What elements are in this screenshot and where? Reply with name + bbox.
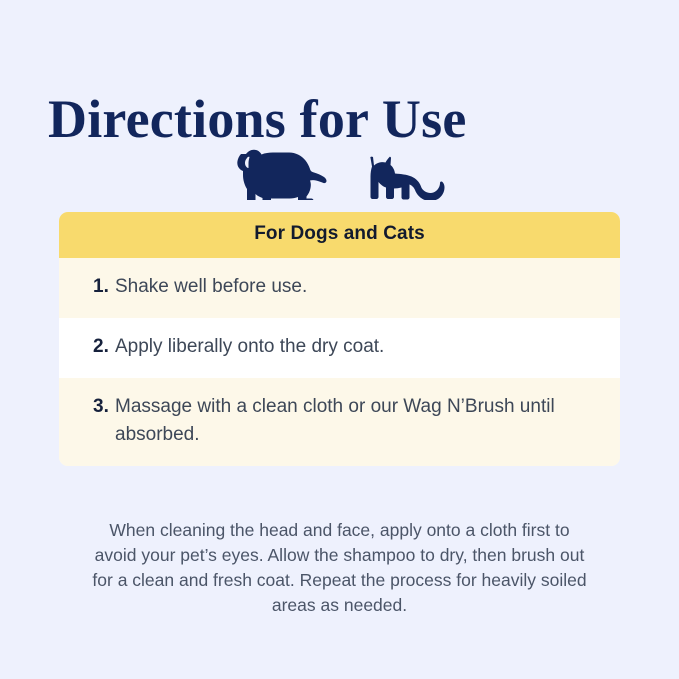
step-number: 2. (93, 333, 115, 361)
steps-list: 1. Shake well before use. 2. Apply liber… (59, 258, 620, 466)
directions-card: For Dogs and Cats 1. Shake well before u… (59, 212, 620, 466)
step-text: Massage with a clean cloth or our Wag N’… (115, 393, 586, 449)
usage-note: When cleaning the head and face, apply o… (89, 518, 590, 618)
list-item: 1. Shake well before use. (59, 258, 620, 318)
step-number: 1. (93, 273, 115, 301)
dog-icon (234, 148, 330, 200)
step-text: Shake well before use. (115, 273, 586, 301)
step-text: Apply liberally onto the dry coat. (115, 333, 586, 361)
cat-icon (366, 154, 446, 200)
pet-icons-row (0, 138, 679, 200)
step-number: 3. (93, 393, 115, 421)
card-header-label: For Dogs and Cats (59, 212, 620, 258)
list-item: 2. Apply liberally onto the dry coat. (59, 318, 620, 378)
directions-for-use-page: Directions for Use For Dogs and Cats 1. … (0, 0, 679, 679)
list-item: 3. Massage with a clean cloth or our Wag… (59, 378, 620, 466)
